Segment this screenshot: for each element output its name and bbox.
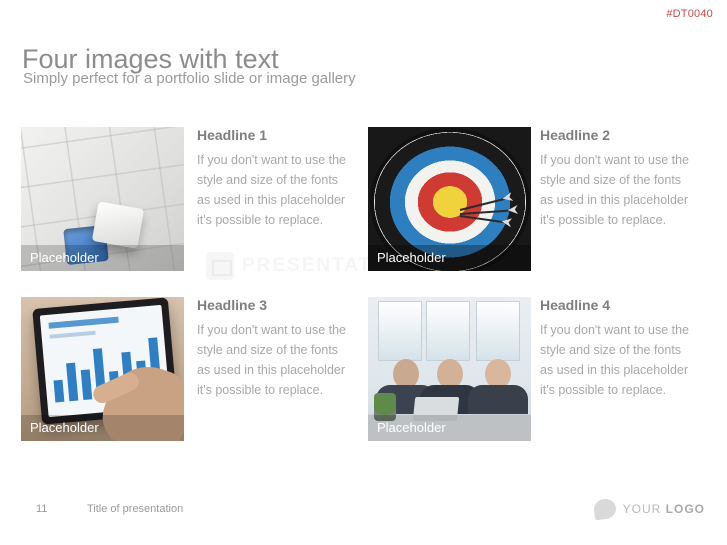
document-code: #DT0040 bbox=[666, 8, 713, 20]
watermark-logo-icon bbox=[206, 252, 234, 280]
body-text-1: If you don't want to use the style and s… bbox=[197, 150, 349, 230]
company-logo: YOUR LOGO bbox=[594, 499, 705, 519]
body-text-4: If you don't want to use the style and s… bbox=[540, 320, 692, 400]
slide-canvas: #DT0040 Four images with text Simply per… bbox=[0, 0, 727, 545]
window-icon-3 bbox=[476, 301, 520, 361]
image-caption-3: Placeholder bbox=[21, 415, 184, 441]
logo-text-your: YOUR bbox=[623, 502, 662, 516]
dartboard-target-image[interactable]: Placeholder bbox=[368, 127, 531, 271]
puzzle-white-piece-icon bbox=[92, 201, 144, 248]
chart-title-bar bbox=[48, 317, 118, 329]
image-caption-1: Placeholder bbox=[21, 245, 184, 271]
body-text-2: If you don't want to use the style and s… bbox=[540, 150, 692, 230]
logo-text-logo: LOGO bbox=[666, 502, 705, 516]
body-text-3: If you don't want to use the style and s… bbox=[197, 320, 349, 400]
tablet-chart-image[interactable]: Placeholder bbox=[21, 297, 184, 441]
page-subtitle: Simply perfect for a portfolio slide or … bbox=[23, 70, 356, 87]
footer-page-number: 11 bbox=[36, 503, 47, 515]
headline-4: Headline 4 bbox=[540, 297, 610, 313]
window-icon-1 bbox=[378, 301, 422, 361]
footer-presentation-title: Title of presentation bbox=[87, 503, 183, 515]
business-team-image[interactable]: Placeholder bbox=[368, 297, 531, 441]
logo-mark-icon bbox=[592, 498, 617, 521]
headline-2: Headline 2 bbox=[540, 127, 610, 143]
image-caption-4: Placeholder bbox=[368, 415, 531, 441]
puzzle-pieces-image[interactable]: Placeholder bbox=[21, 127, 184, 271]
image-caption-2: Placeholder bbox=[368, 245, 531, 271]
headline-3: Headline 3 bbox=[197, 297, 267, 313]
logo-text: YOUR LOGO bbox=[623, 502, 705, 516]
headline-1: Headline 1 bbox=[197, 127, 267, 143]
window-icon-2 bbox=[426, 301, 470, 361]
